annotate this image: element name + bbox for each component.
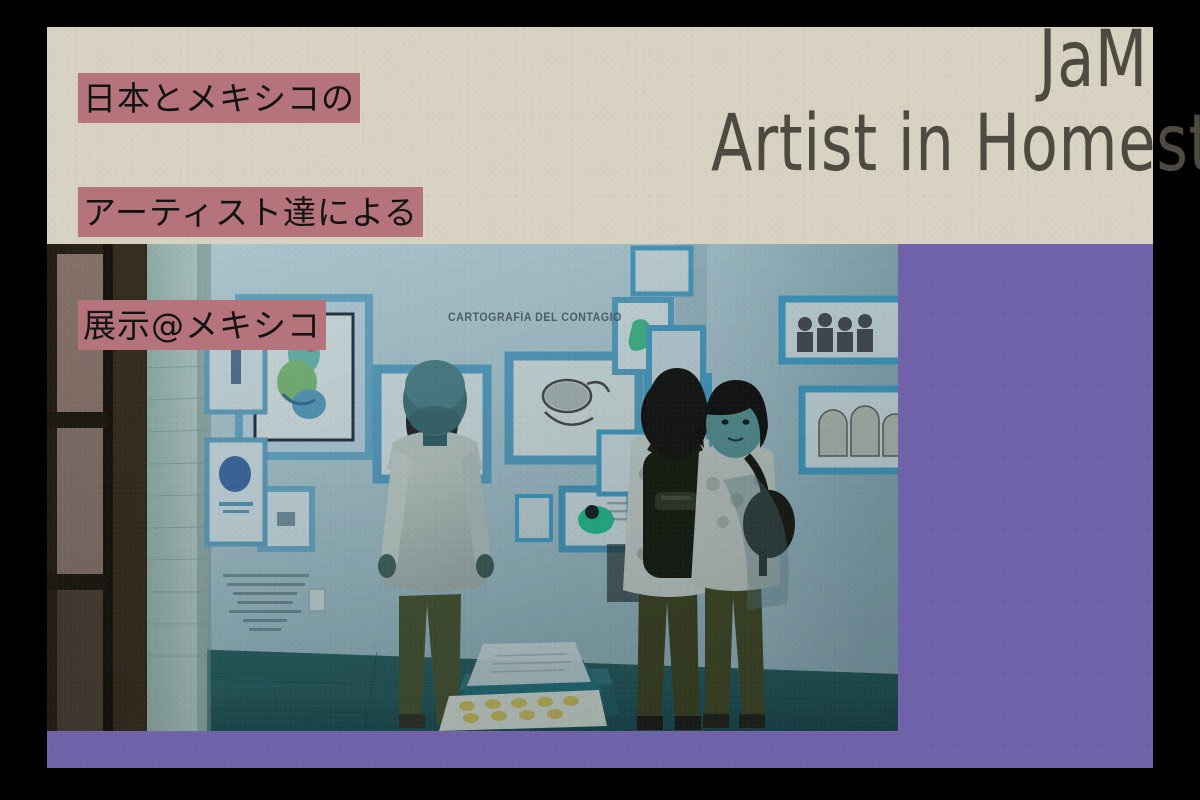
wall-exhibition-title: CARTOGRAFÍA DEL CONTAGIO xyxy=(448,312,622,324)
purple-grain-texture xyxy=(898,244,1153,768)
japanese-line-1: 日本とメキシコの xyxy=(78,73,360,123)
purple-accent-block xyxy=(898,244,1153,768)
purple-band-grain-texture xyxy=(47,730,898,768)
title-block: JaM Artist in Homestay xyxy=(640,22,1160,183)
slide-canvas: CARTOGRAFÍA DEL CONTAGIO JaM Artist in H… xyxy=(0,0,1200,800)
purple-accent-band xyxy=(47,730,898,768)
title-main: JaM xyxy=(711,22,1148,98)
japanese-line-2: アーティスト達による xyxy=(78,187,423,237)
title-subtitle: Artist in Homestay xyxy=(711,106,1148,182)
japanese-line-3: 展示@メキシコ xyxy=(78,300,326,350)
